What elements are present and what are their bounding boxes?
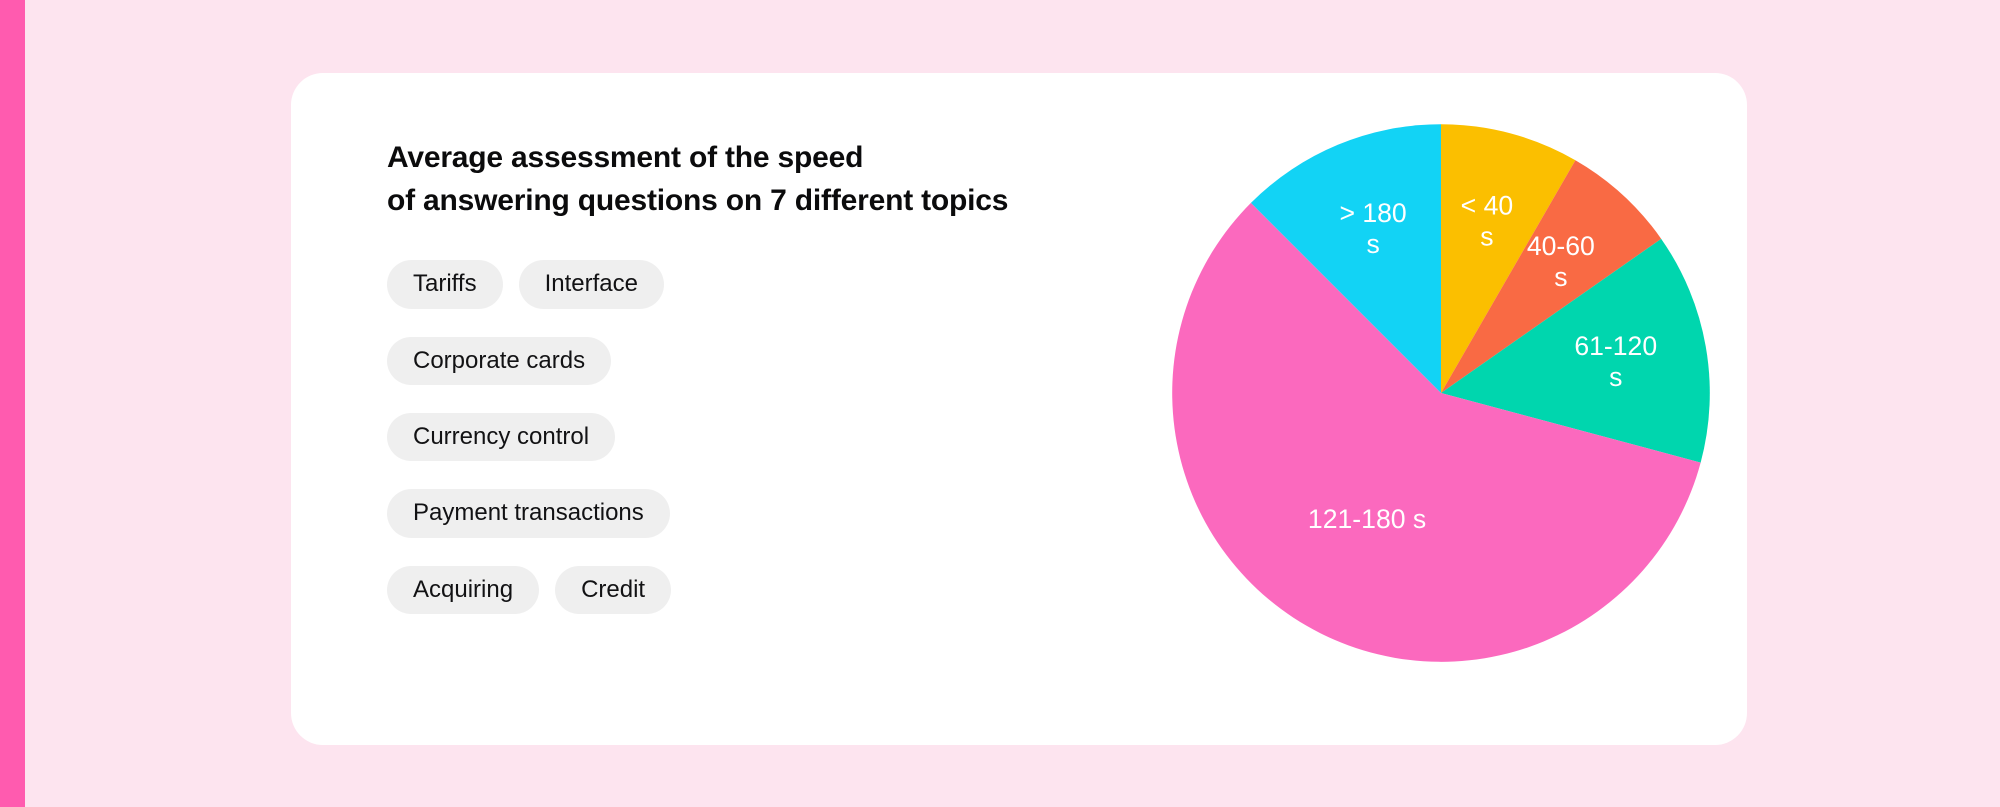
pie-chart-svg: < 40s40-60s61-120s121-180 s> 180s (1161, 113, 1721, 673)
topic-tag-credit[interactable]: Credit (555, 566, 671, 614)
topic-tag-interface[interactable]: Interface (519, 260, 664, 308)
topic-tag-corporate-cards[interactable]: Corporate cards (387, 337, 611, 385)
topic-tag-payment-transactions[interactable]: Payment transactions (387, 489, 670, 537)
topic-tag-tariffs[interactable]: Tariffs (387, 260, 503, 308)
chart-title-line-1: Average assessment of the speed (387, 137, 1187, 180)
left-accent-bar (0, 0, 25, 807)
topic-tag-currency-control[interactable]: Currency control (387, 413, 615, 461)
pie-slice-group (1172, 124, 1710, 662)
topic-tag-acquiring[interactable]: Acquiring (387, 566, 539, 614)
chart-info-panel: Average assessment of the speed of answe… (387, 137, 1187, 614)
chart-title-line-2: of answering questions on 7 different to… (387, 180, 1187, 223)
page-title: Average assessment of the speed of answe… (387, 137, 1187, 222)
pie-chart: < 40s40-60s61-120s121-180 s> 180s (1161, 113, 1721, 673)
topic-tag-list: Tariffs Interface Corporate cards Curren… (387, 260, 1127, 614)
chart-card: Average assessment of the speed of answe… (291, 73, 1747, 745)
